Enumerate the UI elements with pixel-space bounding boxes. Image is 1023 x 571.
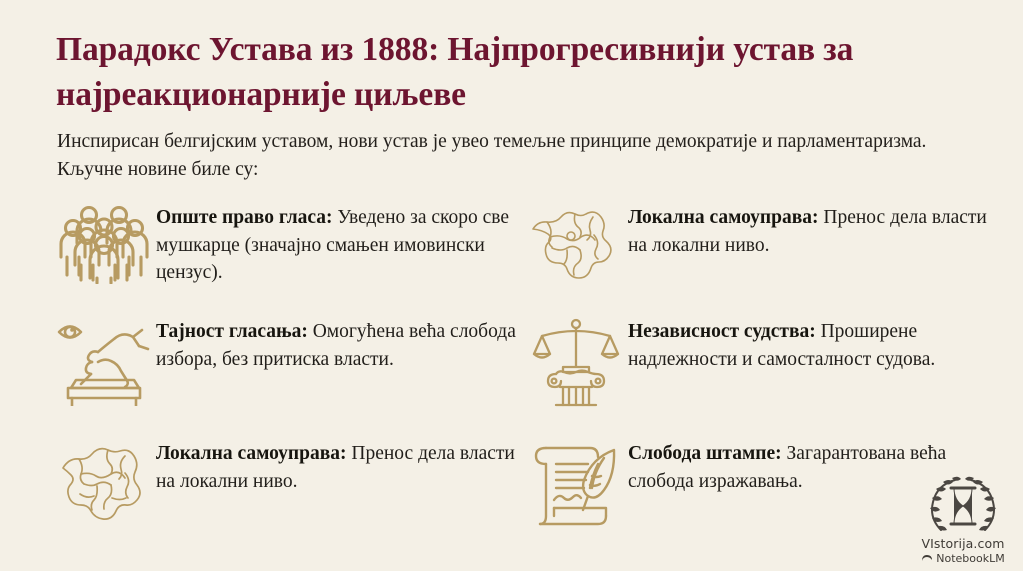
logo-site-name: VIstorija.com [915, 536, 1011, 551]
site-logo: VIstorija.com NotebookLM [915, 474, 1011, 565]
list-item: Локална самоуправа: Пренос дела власти н… [524, 200, 994, 292]
ballot-box-hand-eye-icon [52, 314, 156, 406]
logo-attribution-text: NotebookLM [936, 552, 1004, 565]
list-item: Локална самоуправа: Пренос дела власти н… [52, 436, 522, 528]
list-item-label: Опште право гласа: [156, 207, 333, 228]
list-item-label: Локална самоуправа: [156, 443, 347, 464]
logo-attribution: NotebookLM [915, 552, 1011, 565]
list-item: Тајност гласања: Омогућена већа слобода … [52, 314, 522, 406]
list-item: Независност судства: Проширене надлежнос… [524, 314, 994, 406]
map-belgium-icon [524, 200, 628, 292]
list-item-label: Тајност гласања: [156, 321, 308, 342]
list-item-label: Слобода штампе: [628, 443, 782, 464]
list-item-text: Независност судства: Проширене надлежнос… [628, 314, 994, 373]
infographic-page: Парадокс Устава из 1888: Најпрогресивниј… [0, 0, 1023, 571]
scales-column-icon [524, 314, 628, 406]
people-group-icon [52, 200, 156, 292]
list-item-text: Опште право гласа: Уведено за скоро све … [156, 200, 522, 287]
page-subtitle: Инспирисан белгијским уставом, нови уста… [57, 128, 937, 183]
list-item-label: Независност судства: [628, 321, 816, 342]
hourglass-laurel-icon [925, 474, 1001, 538]
page-title: Парадокс Устава из 1888: Најпрогресивниј… [56, 28, 961, 117]
scroll-quill-icon [524, 436, 628, 528]
list-item-label: Локална самоуправа: [628, 207, 819, 228]
map-regions-icon [52, 436, 156, 528]
list-item-text: Локална самоуправа: Пренос дела власти н… [156, 436, 522, 495]
list-item: Опште право гласа: Уведено за скоро све … [52, 200, 522, 292]
list-item-text: Тајност гласања: Омогућена већа слобода … [156, 314, 522, 373]
list-item-text: Локална самоуправа: Пренос дела власти н… [628, 200, 994, 259]
notebooklm-icon [921, 553, 933, 564]
